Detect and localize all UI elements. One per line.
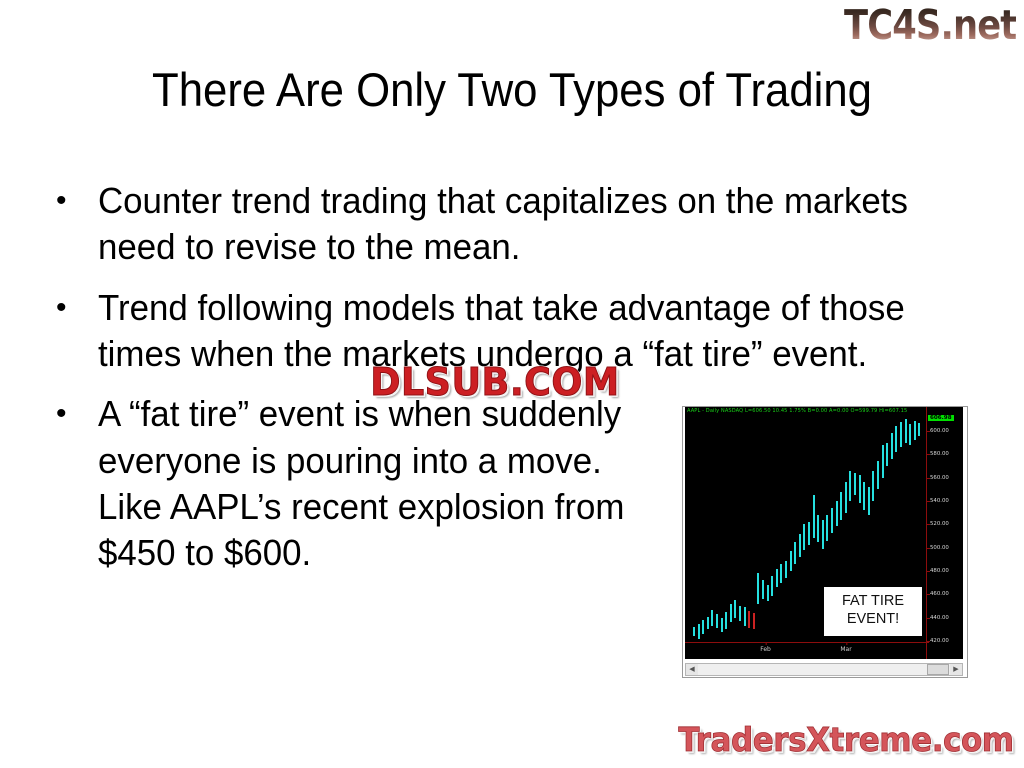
price-bar [905, 419, 907, 442]
chart-canvas: AAPL - Daily NASDAQ L=606.50 10.45 1.75%… [685, 407, 963, 659]
price-bar [753, 613, 755, 629]
price-axis-tick: 600.00 [930, 428, 949, 434]
price-bar [900, 422, 902, 448]
price-axis-tick: 500.00 [930, 545, 949, 551]
price-bar [790, 551, 792, 571]
price-bar [813, 495, 815, 538]
price-axis-tick: 540.00 [930, 498, 949, 504]
bullet-marker-icon: • [56, 391, 98, 438]
price-bar [707, 617, 709, 630]
scroll-left-arrow-icon[interactable]: ◀ [686, 664, 698, 675]
price-axis-tick: 520.00 [930, 521, 949, 527]
price-bar [767, 585, 769, 601]
price-bar [891, 433, 893, 459]
price-axis-tick: 480.00 [930, 568, 949, 574]
fat-tire-line-2: EVENT! [824, 611, 922, 629]
price-bar [822, 520, 824, 549]
price-axis-tick: 560.00 [930, 475, 949, 481]
price-bar [716, 614, 718, 628]
price-bar [744, 607, 746, 626]
fat-tire-line-1: FAT TIRE [824, 593, 922, 611]
page-title: There Are Only Two Types of Trading [36, 62, 988, 117]
price-bar [711, 610, 713, 626]
price-bar [780, 564, 782, 583]
chart-horizontal-scrollbar[interactable]: ◀ ▶ [685, 663, 963, 676]
list-item: • Counter trend trading that capitalizes… [56, 178, 976, 271]
stock-chart-panel: AAPL - Daily NASDAQ L=606.50 10.45 1.75%… [683, 407, 967, 677]
price-bar [872, 471, 874, 501]
price-bar [776, 569, 778, 588]
chart-quote-header: AAPL - Daily NASDAQ L=606.50 10.45 1.75%… [687, 408, 907, 414]
chart-price-axis: 606.98 600.00580.00560.00540.00520.00500… [926, 407, 963, 659]
price-bar [734, 600, 736, 618]
footer-logo-tradersxtreme: TradersXtreme.com [679, 720, 1014, 760]
list-item-text: A “fat tire” event is when suddenly ever… [98, 391, 671, 576]
price-bar [817, 515, 819, 542]
price-bar [693, 627, 695, 636]
price-bar [762, 580, 764, 599]
price-bar [739, 606, 741, 621]
price-bar [794, 542, 796, 564]
chart-time-axis: FebMar [685, 642, 929, 659]
price-axis-tick: 580.00 [930, 451, 949, 457]
price-bar [895, 426, 897, 452]
dlsub-watermark: DLSUB.COM [370, 362, 619, 404]
price-bar [826, 515, 828, 541]
price-bar [863, 482, 865, 510]
scrollbar-thumb[interactable] [927, 664, 949, 675]
price-bar [748, 611, 750, 629]
price-bar [854, 473, 856, 495]
time-axis-tick: Feb [760, 646, 771, 653]
fat-tire-annotation: FAT TIRE EVENT! [822, 585, 924, 638]
bullet-marker-icon: • [56, 178, 98, 225]
price-bar [785, 561, 787, 579]
price-bar [698, 624, 700, 639]
price-bar [757, 573, 759, 603]
scroll-right-arrow-icon[interactable]: ▶ [950, 664, 962, 675]
price-axis-tick: 460.00 [930, 591, 949, 597]
brand-logo-tc4s: TC4S.net [844, 2, 1016, 49]
chart-current-price-tag: 606.98 [928, 415, 954, 421]
price-bar [859, 475, 861, 503]
price-bar [771, 576, 773, 596]
price-bar [849, 471, 851, 501]
price-bar [882, 445, 884, 478]
price-bar [799, 534, 801, 557]
price-bar [918, 423, 920, 436]
price-axis-tick: 420.00 [930, 638, 949, 644]
price-bar [886, 443, 888, 466]
price-bar [836, 501, 838, 526]
price-bar [721, 618, 723, 632]
price-bar [868, 487, 870, 515]
price-bar [702, 620, 704, 634]
price-bar [725, 612, 727, 630]
price-axis-tick: 440.00 [930, 615, 949, 621]
price-bar [877, 461, 879, 489]
bullet-marker-icon: • [56, 285, 98, 332]
time-axis-tick: Mar [840, 646, 851, 653]
price-bar [914, 421, 916, 441]
price-bar [909, 424, 911, 445]
price-bar [845, 482, 847, 512]
price-bar [803, 524, 805, 550]
price-bar [831, 508, 833, 533]
list-item-text: Counter trend trading that capitalizes o… [98, 178, 936, 271]
price-bar [840, 492, 842, 520]
price-bar [730, 604, 732, 623]
price-bar [808, 522, 810, 545]
